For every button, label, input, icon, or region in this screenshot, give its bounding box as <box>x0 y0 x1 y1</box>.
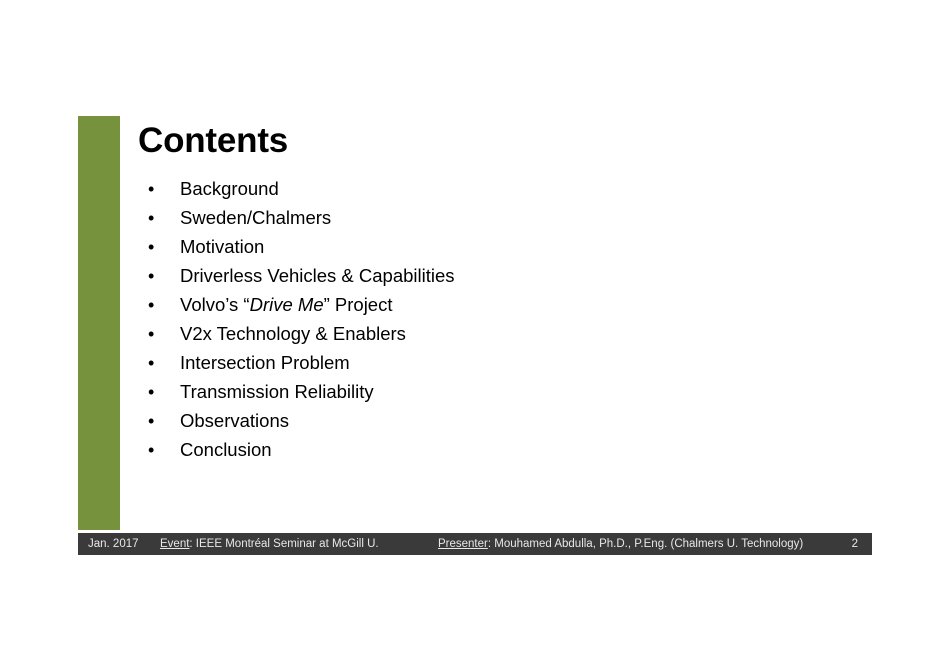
list-item: •Motivation <box>148 232 848 261</box>
footer-presenter-label: Presenter <box>438 538 488 550</box>
footer-event-value: : IEEE Montréal Seminar at McGill U. <box>189 538 378 550</box>
bullet-icon: • <box>148 407 180 436</box>
list-item-label: Sweden/Chalmers <box>180 203 331 232</box>
list-item: •Conclusion <box>148 435 848 464</box>
bullet-icon: • <box>148 175 180 204</box>
footer-page-number: 2 <box>852 533 858 555</box>
bullet-icon: • <box>148 291 180 320</box>
bullet-icon: • <box>148 436 180 465</box>
list-item: •Transmission Reliability <box>148 377 848 406</box>
bullet-icon: • <box>148 233 180 262</box>
list-item-label: V2x Technology & Enablers <box>180 319 406 348</box>
list-item-label: Intersection Problem <box>180 348 350 377</box>
list-item-label: Motivation <box>180 232 264 261</box>
slide-canvas: Contents •Background•Sweden/Chalmers•Mot… <box>0 0 950 672</box>
list-item-label: Background <box>180 174 279 203</box>
footer-event-label: Event <box>160 538 189 550</box>
list-item: •Observations <box>148 406 848 435</box>
bullet-icon: • <box>148 204 180 233</box>
contents-list: •Background•Sweden/Chalmers•Motivation•D… <box>148 174 848 464</box>
list-item: •V2x Technology & Enablers <box>148 319 848 348</box>
list-item: •Background <box>148 174 848 203</box>
footer-event: Event: IEEE Montréal Seminar at McGill U… <box>160 533 379 555</box>
bullet-icon: • <box>148 262 180 291</box>
list-item-label: Volvo’s “Drive Me” Project <box>180 290 393 319</box>
list-item-label: Observations <box>180 406 289 435</box>
list-item-label: Driverless Vehicles & Capabilities <box>180 261 455 290</box>
footer-bar: Jan. 2017 Event: IEEE Montréal Seminar a… <box>78 533 872 555</box>
list-item-label: Transmission Reliability <box>180 377 374 406</box>
bullet-icon: • <box>148 378 180 407</box>
list-item-label: Conclusion <box>180 435 272 464</box>
bullet-icon: • <box>148 349 180 378</box>
list-item: •Intersection Problem <box>148 348 848 377</box>
footer-presenter-value: : Mouhamed Abdulla, Ph.D., P.Eng. (Chalm… <box>488 538 803 550</box>
footer-presenter: Presenter: Mouhamed Abdulla, Ph.D., P.En… <box>438 533 803 555</box>
green-accent-bar <box>78 116 120 530</box>
list-item: •Sweden/Chalmers <box>148 203 848 232</box>
list-item: •Volvo’s “Drive Me” Project <box>148 290 848 319</box>
bullet-icon: • <box>148 320 180 349</box>
page-title: Contents <box>138 119 288 163</box>
list-item: •Driverless Vehicles & Capabilities <box>148 261 848 290</box>
footer-date: Jan. 2017 <box>88 533 139 555</box>
